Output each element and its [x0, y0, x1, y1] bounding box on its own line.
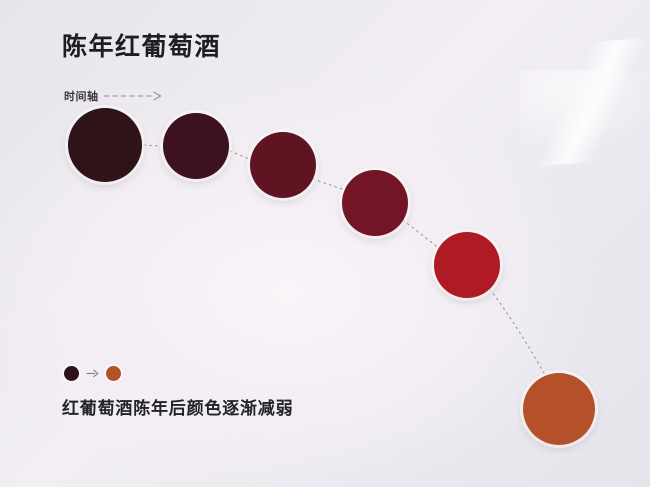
infographic-canvas: 陈年红葡萄酒 时间轴 红葡萄酒陈年后颜色逐渐减弱 [0, 0, 650, 487]
legend-end-swatch-icon [106, 366, 121, 381]
arrow-right-icon [86, 368, 99, 379]
connector-2-3 [230, 151, 249, 159]
legend-start-swatch-icon [64, 366, 79, 381]
connector-1-2 [144, 145, 161, 146]
caption-text: 红葡萄酒陈年后颜色逐渐减弱 [62, 394, 293, 419]
connector-4-5 [403, 220, 440, 249]
connector-3-4 [313, 179, 345, 190]
legend [64, 366, 121, 381]
connector-5-6 [490, 289, 545, 375]
